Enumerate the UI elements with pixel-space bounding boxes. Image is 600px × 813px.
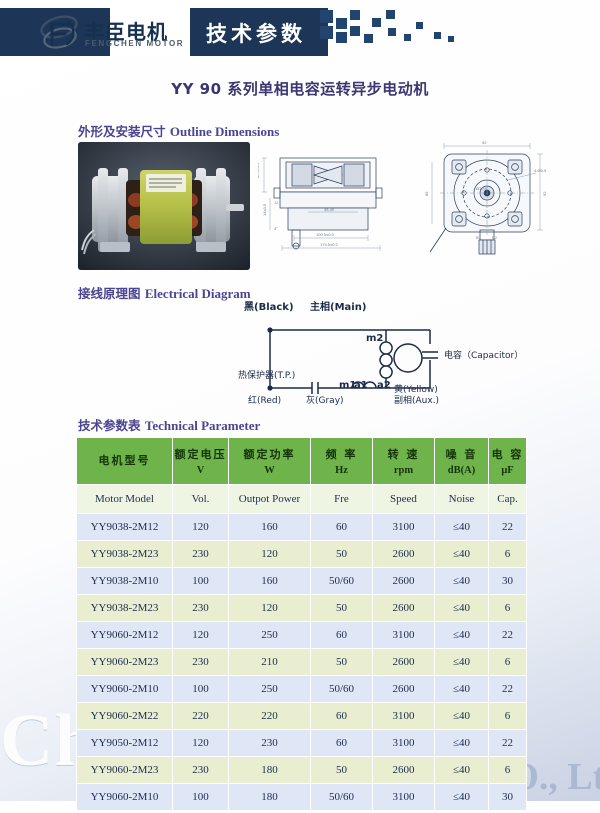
table-head: 电机型号 额定电压 V 额定功率 W 频 率 Hz 转 速 rpm bbox=[77, 438, 527, 514]
cell-model: YY9060-2M12 bbox=[77, 622, 173, 649]
cell-frequency: 60 bbox=[311, 514, 373, 541]
cell-capacitor: 22 bbox=[489, 730, 527, 757]
elec-label-capacitor: 电容（Capacitor） bbox=[444, 348, 523, 361]
table-body: YY9038-2M12120160603100≤4022YY9038-2M232… bbox=[77, 514, 527, 811]
cell-speed: 2600 bbox=[373, 541, 435, 568]
cell-noise: ≤40 bbox=[435, 514, 489, 541]
cell-frequency: 50 bbox=[311, 541, 373, 568]
col-header-model: 电机型号 bbox=[77, 438, 173, 485]
cell-power: 210 bbox=[229, 649, 311, 676]
cell-power: 160 bbox=[229, 568, 311, 595]
table-row: YY9060-2M22220220603100≤406 bbox=[77, 703, 527, 730]
cell-model: YY9060-2M23 bbox=[77, 757, 173, 784]
cell-power: 120 bbox=[229, 541, 311, 568]
technical-parameter-table: 电机型号 额定电压 V 额定功率 W 频 率 Hz 转 速 rpm bbox=[76, 437, 527, 811]
col-header-voltage: 额定电压 V bbox=[173, 438, 229, 485]
table-header-row-chinese: 电机型号 额定电压 V 额定功率 W 频 率 Hz 转 速 rpm bbox=[77, 438, 527, 485]
cell-noise: ≤40 bbox=[435, 541, 489, 568]
svg-text:92: 92 bbox=[482, 140, 487, 145]
section-heading-electrical-en: Electrical Diagram bbox=[145, 286, 251, 301]
table-row: YY9038-2M23230120502600≤406 bbox=[77, 541, 527, 568]
section-heading-electrical: 接线原理图 Electrical Diagram bbox=[78, 283, 251, 302]
cell-frequency: 50 bbox=[311, 649, 373, 676]
table-row: YY9060-2M1010025050/602600≤4022 bbox=[77, 676, 527, 703]
cell-capacitor: 6 bbox=[489, 757, 527, 784]
cell-power: 250 bbox=[229, 622, 311, 649]
svg-text:92: 92 bbox=[542, 191, 547, 196]
cell-voltage: 120 bbox=[173, 622, 229, 649]
cell-capacitor: 30 bbox=[489, 784, 527, 811]
elec-label-a1: a1 bbox=[354, 380, 368, 391]
cell-power: 160 bbox=[229, 514, 311, 541]
cell-frequency: 50 bbox=[311, 757, 373, 784]
svg-text:85: 85 bbox=[424, 191, 429, 196]
svg-text:B2: B2 bbox=[492, 235, 498, 240]
table-row: YY9060-2M23230210502600≤406 bbox=[77, 649, 527, 676]
svg-text:4-Ø5.5: 4-Ø5.5 bbox=[534, 168, 547, 173]
elec-label-gray: 灰(Gray) bbox=[306, 393, 344, 406]
cell-capacitor: 6 bbox=[489, 541, 527, 568]
col-header-speed: 转 速 rpm bbox=[373, 438, 435, 485]
outline-drawing-end-view: 92 92 85 4-Ø5.5 Ø70 f7 B1B2 bbox=[424, 140, 564, 262]
section-heading-parameter: 技术参数表 Technical Parameter bbox=[78, 415, 260, 434]
cell-power: 120 bbox=[229, 595, 311, 622]
cell-speed: 3100 bbox=[373, 730, 435, 757]
cell-model: YY9060-2M23 bbox=[77, 649, 173, 676]
cell-noise: ≤40 bbox=[435, 730, 489, 757]
cell-model: YY9060-2M22 bbox=[77, 703, 173, 730]
col-header-en-voltage: Vol. bbox=[173, 485, 229, 514]
cell-power: 230 bbox=[229, 730, 311, 757]
cell-noise: ≤40 bbox=[435, 757, 489, 784]
col-header-capacitor: 电 容 μF bbox=[489, 438, 527, 485]
brand-header: 丰臣电机 FENGCHEN MOTOR 技术参数 bbox=[0, 8, 600, 56]
svg-text:J1: J1 bbox=[274, 200, 279, 205]
section-heading-parameter-en: Technical Parameter bbox=[145, 418, 260, 433]
elec-label-thermal-protector: 热保护器(T.P.) bbox=[238, 368, 295, 381]
cell-speed: 2600 bbox=[373, 757, 435, 784]
cell-capacitor: 30 bbox=[489, 568, 527, 595]
cell-noise: ≤40 bbox=[435, 649, 489, 676]
electrical-circuit-diagram: 黑(Black) 主相(Main) m2 热保护器(T.P.) m1 a1 a2… bbox=[244, 300, 544, 405]
cell-voltage: 220 bbox=[173, 703, 229, 730]
elec-label-m2: m2 bbox=[366, 333, 383, 344]
cell-power: 180 bbox=[229, 757, 311, 784]
table-row: YY9038-2M23230120502600≤406 bbox=[77, 595, 527, 622]
col-header-en-power: Outpot Power bbox=[229, 485, 311, 514]
cell-model: YY9060-2M10 bbox=[77, 784, 173, 811]
cell-power: 250 bbox=[229, 676, 311, 703]
cell-model: YY9060-2M10 bbox=[77, 676, 173, 703]
cell-model: YY9050-2M12 bbox=[77, 730, 173, 757]
col-header-en-noise: Noise bbox=[435, 485, 489, 514]
motor-product-photo bbox=[78, 142, 250, 270]
cell-power: 220 bbox=[229, 703, 311, 730]
table-header-row-english: Motor Model Vol. Outpot Power Fre Speed … bbox=[77, 485, 527, 514]
col-header-en-speed: Speed bbox=[373, 485, 435, 514]
cell-voltage: 100 bbox=[173, 784, 229, 811]
logo-english-name: FENGCHEN MOTOR bbox=[85, 39, 184, 48]
elec-label-black: 黑(Black) bbox=[244, 298, 294, 313]
svg-text:14±0.5: 14±0.5 bbox=[262, 203, 267, 216]
cell-speed: 3100 bbox=[373, 703, 435, 730]
cell-noise: ≤40 bbox=[435, 568, 489, 595]
table-row: YY9050-2M12120230603100≤4022 bbox=[77, 730, 527, 757]
elec-label-main: 主相(Main) bbox=[310, 298, 366, 313]
elec-label-a2: a2 bbox=[377, 380, 391, 391]
svg-text:174.5±0.2: 174.5±0.2 bbox=[320, 242, 339, 247]
cell-model: YY9038-2M23 bbox=[77, 595, 173, 622]
col-header-noise: 噪 音 dB(A) bbox=[435, 438, 489, 485]
svg-text:B1: B1 bbox=[476, 235, 482, 240]
header-dot-pattern-icon bbox=[320, 8, 510, 56]
cell-frequency: 50/60 bbox=[311, 676, 373, 703]
section-heading-parameter-cn: 技术参数表 bbox=[78, 418, 141, 433]
col-header-power: 额定功率 W bbox=[229, 438, 311, 485]
table-row: YY9038-2M12120160603100≤4022 bbox=[77, 514, 527, 541]
cell-frequency: 60 bbox=[311, 703, 373, 730]
table-row: YY9060-2M23230180502600≤406 bbox=[77, 757, 527, 784]
cell-capacitor: 22 bbox=[489, 622, 527, 649]
cell-model: YY9038-2M10 bbox=[77, 568, 173, 595]
elec-label-aux: 副相(Aux.) bbox=[394, 393, 439, 406]
cell-speed: 3100 bbox=[373, 622, 435, 649]
section-heading-outline: 外形及安装尺寸 Outline Dimensions bbox=[78, 121, 279, 140]
cell-model: YY9038-2M12 bbox=[77, 514, 173, 541]
cell-speed: 3100 bbox=[373, 784, 435, 811]
elec-label-red: 红(Red) bbox=[248, 393, 281, 406]
cell-speed: 2600 bbox=[373, 568, 435, 595]
page-title: YY 90 系列单相电容运转异步电动机 bbox=[0, 78, 600, 99]
cell-noise: ≤40 bbox=[435, 784, 489, 811]
cell-voltage: 230 bbox=[173, 595, 229, 622]
cell-capacitor: 6 bbox=[489, 649, 527, 676]
cell-power: 180 bbox=[229, 784, 311, 811]
cell-voltage: 230 bbox=[173, 757, 229, 784]
cell-capacitor: 6 bbox=[489, 703, 527, 730]
table-row: YY9060-2M1010018050/603100≤4030 bbox=[77, 784, 527, 811]
cell-frequency: 50/60 bbox=[311, 784, 373, 811]
cell-speed: 2600 bbox=[373, 676, 435, 703]
col-header-en-model: Motor Model bbox=[77, 485, 173, 514]
section-heading-outline-en: Outline Dimensions bbox=[170, 124, 279, 139]
cell-speed: 3100 bbox=[373, 514, 435, 541]
svg-text:100.5±0.5: 100.5±0.5 bbox=[316, 232, 335, 237]
cell-voltage: 100 bbox=[173, 568, 229, 595]
svg-text:Ø70 f7: Ø70 f7 bbox=[476, 186, 489, 191]
col-header-en-capacitor: Cap. bbox=[489, 485, 527, 514]
section-heading-outline-cn: 外形及安装尺寸 bbox=[78, 124, 166, 139]
cell-frequency: 50/60 bbox=[311, 568, 373, 595]
cell-voltage: 120 bbox=[173, 514, 229, 541]
cell-voltage: 120 bbox=[173, 730, 229, 757]
cell-capacitor: 22 bbox=[489, 514, 527, 541]
col-header-frequency: 频 率 Hz bbox=[311, 438, 373, 485]
cell-speed: 2600 bbox=[373, 595, 435, 622]
cell-noise: ≤40 bbox=[435, 703, 489, 730]
cell-capacitor: 6 bbox=[489, 595, 527, 622]
header-banner-title: 技术参数 bbox=[196, 18, 316, 48]
cell-voltage: 100 bbox=[173, 676, 229, 703]
outline-drawing-side-view: Ø70±0.1 14±0.5 38-40 100.5±0.5 174.5±0.2… bbox=[258, 142, 398, 260]
technical-parameter-table-wrapper: 电机型号 额定电压 V 额定功率 W 频 率 Hz 转 速 rpm bbox=[76, 437, 526, 811]
section-heading-electrical-cn: 接线原理图 bbox=[78, 286, 141, 301]
cell-frequency: 60 bbox=[311, 730, 373, 757]
svg-text:Ø70±0.1: Ø70±0.1 bbox=[258, 162, 260, 178]
cell-voltage: 230 bbox=[173, 649, 229, 676]
svg-text:4°: 4° bbox=[274, 226, 278, 231]
cell-noise: ≤40 bbox=[435, 622, 489, 649]
cell-noise: ≤40 bbox=[435, 676, 489, 703]
cell-speed: 2600 bbox=[373, 649, 435, 676]
cell-noise: ≤40 bbox=[435, 595, 489, 622]
table-row: YY9038-2M1010016050/602600≤4030 bbox=[77, 568, 527, 595]
table-row: YY9060-2M12120250603100≤4022 bbox=[77, 622, 527, 649]
cell-frequency: 60 bbox=[311, 622, 373, 649]
cell-capacitor: 22 bbox=[489, 676, 527, 703]
company-logo-icon bbox=[38, 15, 82, 51]
cell-frequency: 50 bbox=[311, 595, 373, 622]
cell-model: YY9038-2M23 bbox=[77, 541, 173, 568]
cell-voltage: 230 bbox=[173, 541, 229, 568]
svg-text:38-40: 38-40 bbox=[324, 207, 335, 212]
col-header-en-frequency: Fre bbox=[311, 485, 373, 514]
